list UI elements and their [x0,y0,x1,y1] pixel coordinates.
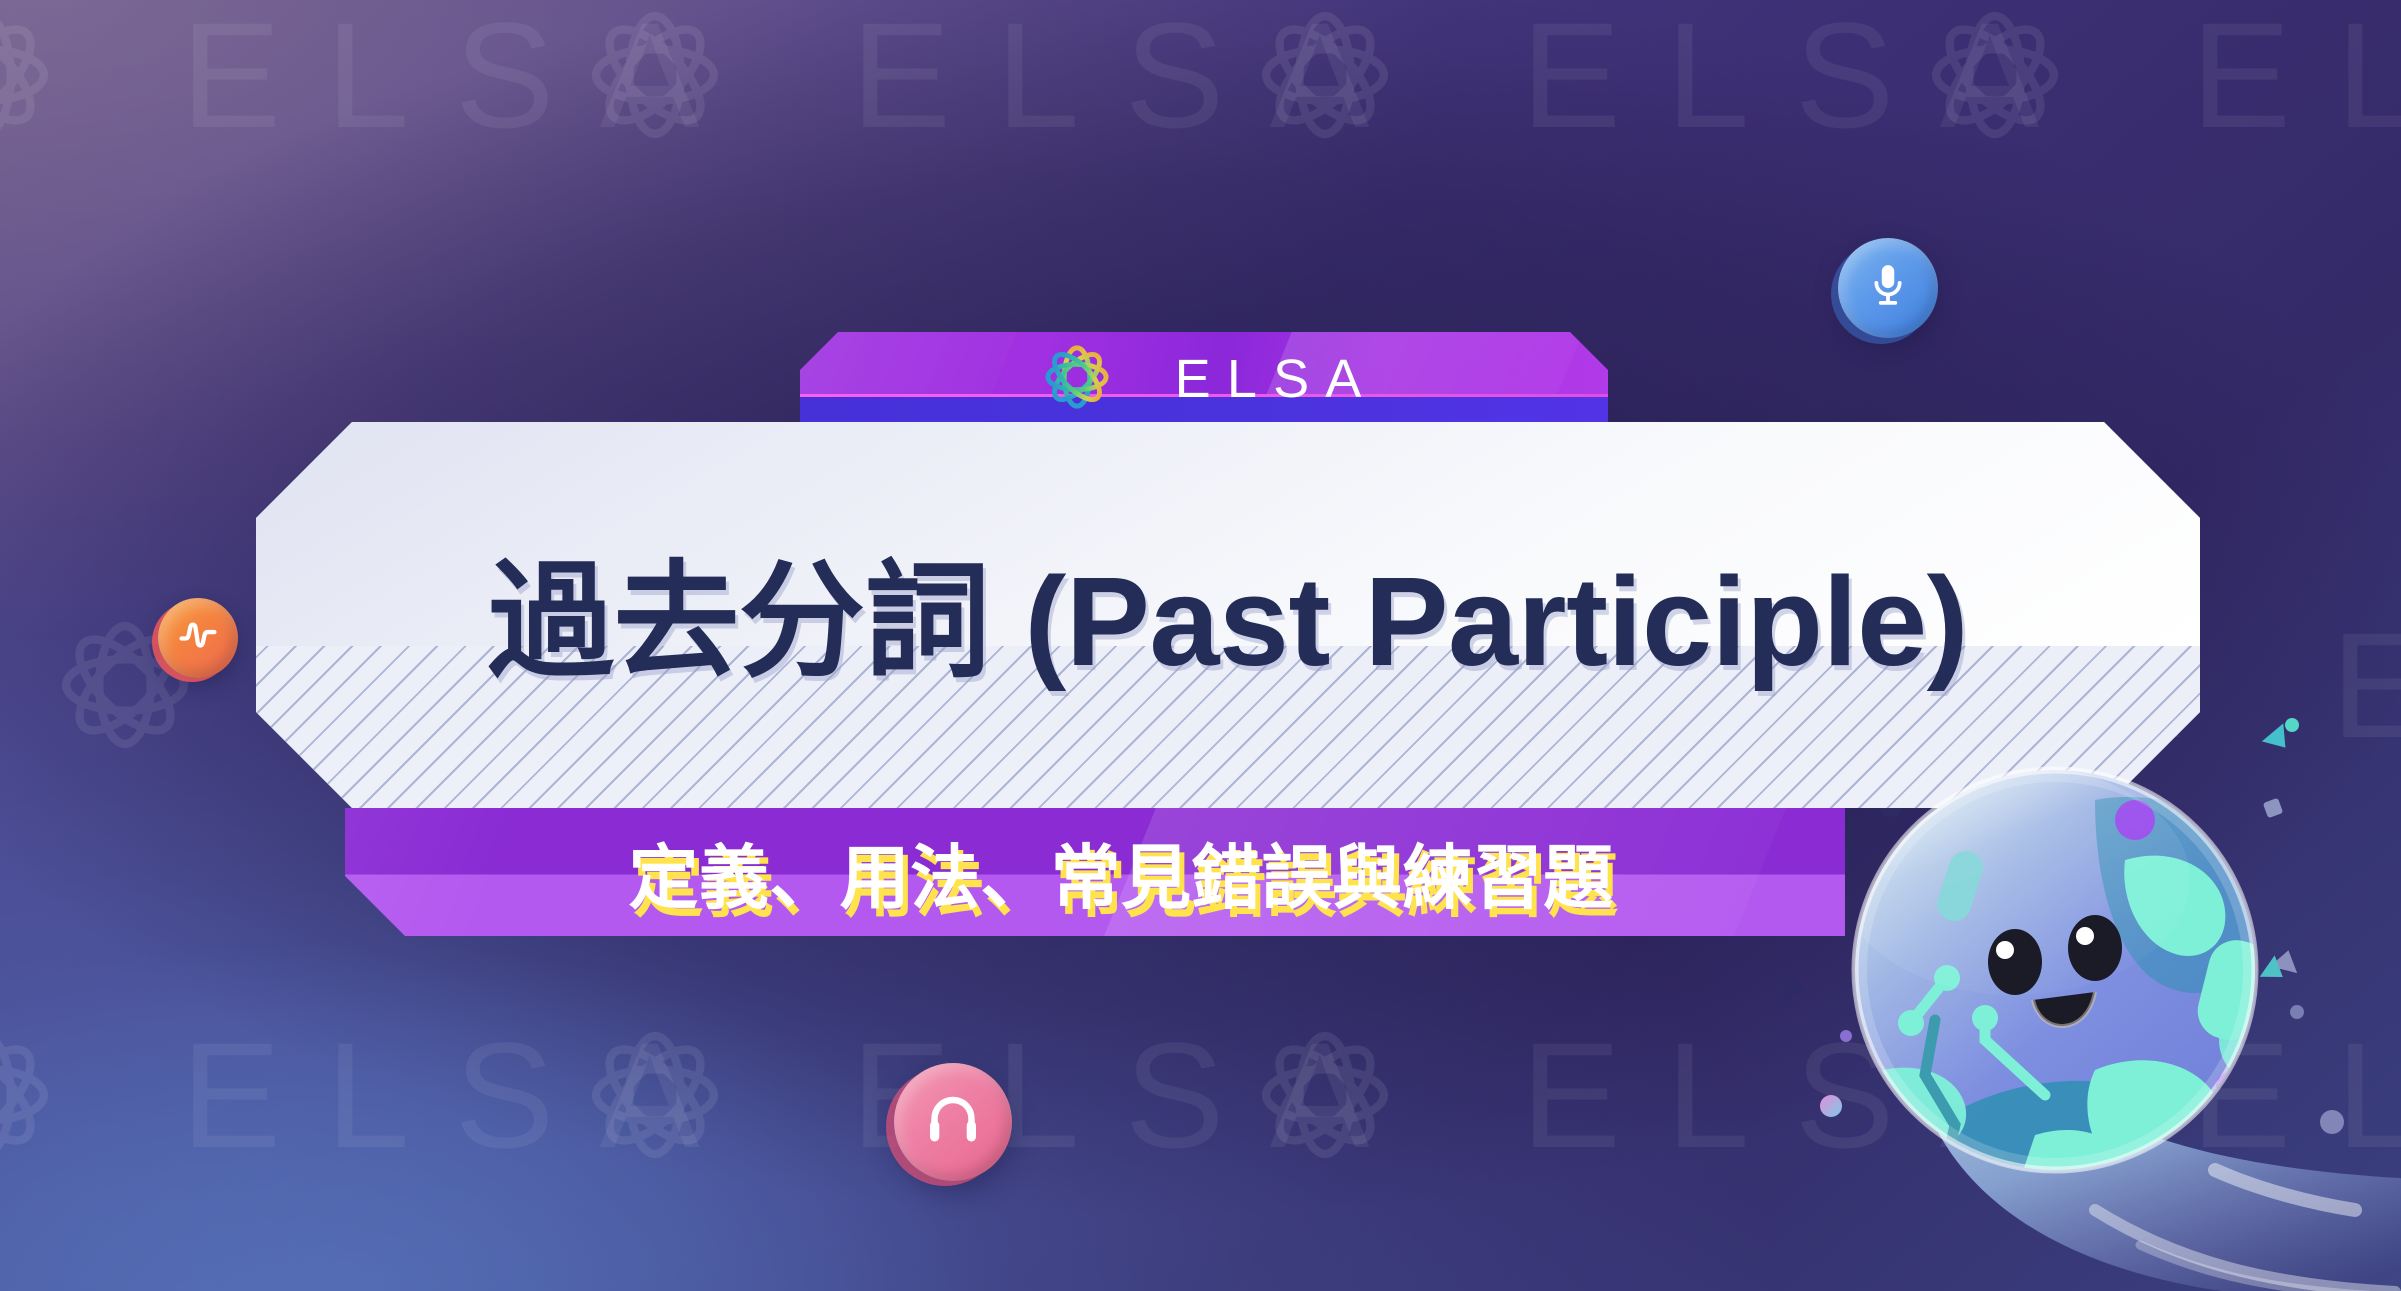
elsa-blog-hero-banner: ELSAELSAELSAELSAELSAELSAELSAELSAELSAELSA… [0,0,2401,1291]
sound-wave-badge[interactable] [158,598,238,678]
elsa-flower-logo-icon [1030,330,1124,429]
microphone-badge[interactable] [1838,238,1938,338]
sound-wave-icon [175,613,221,664]
brand-wordmark: ELSA [1158,352,1377,406]
brand-lockup: ELSA [800,332,1608,426]
headphones-badge[interactable] [894,1063,1012,1181]
watermark-elsa-logo: ELSA [1900,0,2401,170]
headphones-icon [922,1089,984,1156]
microphone-icon [1863,261,1913,316]
smiling-planet-mascot [1795,740,2401,1291]
page-subtitle: 定義、用法、常見錯誤與練習題 [345,808,1845,936]
